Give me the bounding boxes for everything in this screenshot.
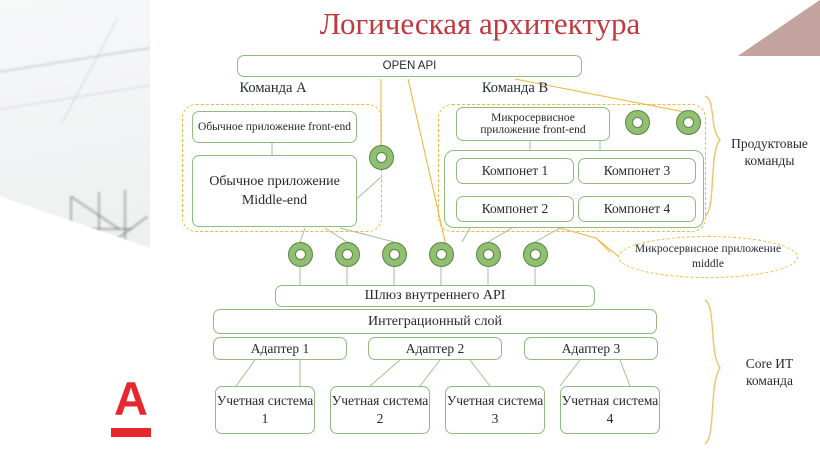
interface-node-icon-6[interactable] [523,242,548,267]
accounting-system-box-3[interactable]: Учетная система 3 [445,386,545,434]
component-box-4[interactable]: Компонет 4 [578,196,696,222]
team-a-frontend-box[interactable]: Обычное приложение front-end [192,111,357,143]
brace-product-teams [705,96,720,216]
open-api-box[interactable]: OPEN API [237,55,582,77]
brace-core-it [705,300,720,444]
interface-node-icon-a1[interactable] [369,145,394,170]
adapter-box-1[interactable]: Адаптер 1 [213,337,347,360]
brace-label-product-teams: Продуктовые команды [722,135,817,169]
accounting-system-box-4[interactable]: Учетная система 4 [560,386,660,434]
team-b-label: Команда B [440,80,590,97]
interface-node-icon-5[interactable] [476,242,501,267]
adapter-box-3[interactable]: Адаптер 3 [524,337,658,360]
component-box-1[interactable]: Компонет 1 [456,158,574,184]
interface-node-icon-4[interactable] [429,242,454,267]
component-box-3[interactable]: Компонет 3 [578,158,696,184]
accounting-system-box-1[interactable]: Учетная система 1 [215,386,315,434]
component-box-2[interactable]: Компонет 2 [456,196,574,222]
interface-node-icon-2[interactable] [335,242,360,267]
team-a-middleend-box[interactable]: Обычное приложение Middle-end [192,155,357,227]
adapter-box-2[interactable]: Адаптер 2 [368,337,502,360]
integration-layer-box[interactable]: Интеграционный слой [213,309,657,334]
interface-node-icon-b1[interactable] [625,110,650,135]
interface-node-icon-3[interactable] [382,242,407,267]
slide-canvas: A Логическая архитектура [0,0,820,455]
microservice-middle-callout-label: Микросервисное приложение middle [618,242,798,272]
brace-label-core-it: Core ИТ команда [722,355,817,389]
interface-node-icon-b2[interactable] [676,110,701,135]
api-gateway-box[interactable]: Шлюз внутреннего API [275,285,595,307]
team-a-label: Команда A [198,80,348,97]
accounting-system-box-2[interactable]: Учетная система 2 [330,386,430,434]
interface-node-icon-1[interactable] [288,242,313,267]
team-b-frontend-box[interactable]: Микросервисное приложение front-end [456,107,610,141]
